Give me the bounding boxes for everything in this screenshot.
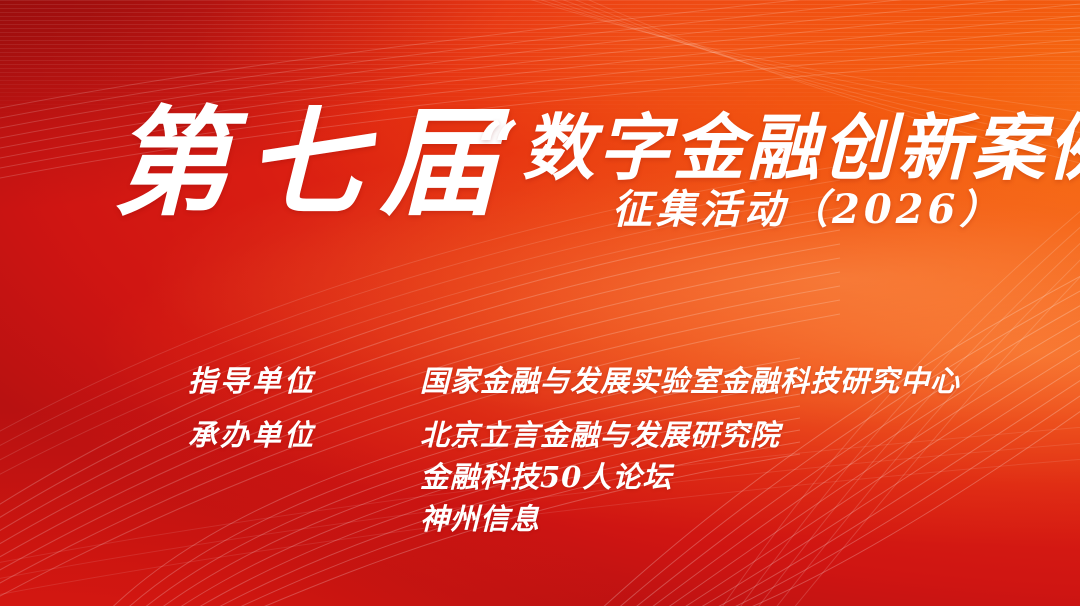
organization-value: 北京立言金融与发展研究院 bbox=[420, 414, 1018, 456]
organization-value: 金融科技50人论坛 bbox=[420, 456, 1018, 498]
organization-label-guidance: 指导单位 bbox=[188, 360, 420, 402]
organization-row: 承办单位 北京立言金融与发展研究院 金融科技50人论坛 神州信息 bbox=[188, 414, 1018, 540]
organizations-block: 指导单位 国家金融与发展实验室金融科技研究中心 承办单位 北京立言金融与发展研究… bbox=[188, 360, 1018, 540]
page-subtitle: 征集活动（2026） bbox=[612, 190, 1003, 230]
page-title-main: 第七届 bbox=[112, 104, 514, 222]
organization-row: 指导单位 国家金融与发展实验室金融科技研究中心 bbox=[188, 360, 1018, 402]
organization-value: 国家金融与发展实验室金融科技研究中心 bbox=[420, 360, 1018, 402]
event-poster: 第七届 “数字金融创新案例” 征集活动（2026） 指导单位 国家金融与发展实验… bbox=[0, 0, 1080, 606]
organization-values-guidance: 国家金融与发展实验室金融科技研究中心 bbox=[420, 360, 1018, 402]
organization-value: 神州信息 bbox=[420, 498, 1018, 540]
organization-label-host: 承办单位 bbox=[188, 414, 420, 456]
organization-values-host: 北京立言金融与发展研究院 金融科技50人论坛 神州信息 bbox=[420, 414, 1018, 540]
page-title-quoted: “数字金融创新案例” bbox=[478, 112, 1080, 184]
